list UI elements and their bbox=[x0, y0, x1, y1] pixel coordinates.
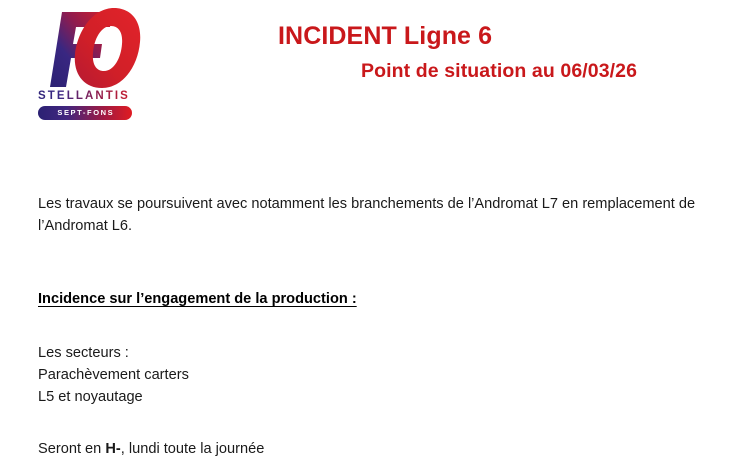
intro-paragraph: Les travaux se poursuivent avec notammen… bbox=[38, 193, 710, 237]
production-impact-heading: Incidence sur l’engagement de la product… bbox=[38, 291, 357, 307]
fo-logo-mark bbox=[28, 4, 146, 92]
closing-emphasis: H- bbox=[105, 441, 120, 457]
page-subtitle: Point de situation au 06/03/26 bbox=[361, 60, 637, 83]
page-title: INCIDENT Ligne 6 bbox=[278, 22, 492, 51]
logo-company-name: STELLANTIS bbox=[28, 90, 140, 103]
list-item: L5 et noyautage bbox=[38, 386, 718, 408]
closing-suffix: , lundi toute la journée bbox=[121, 441, 265, 457]
sector-list-label: Les secteurs : bbox=[38, 342, 718, 364]
document-header: STELLANTIS SEPT-FONS INCIDENT Ligne 6 Po… bbox=[0, 0, 750, 130]
fo-letters-icon bbox=[28, 4, 146, 92]
sector-list: Les secteurs : Parachèvement carters L5 … bbox=[38, 342, 718, 408]
list-item: Parachèvement carters bbox=[38, 364, 718, 386]
logo-site-badge: SEPT-FONS bbox=[38, 106, 132, 120]
closing-prefix: Seront en bbox=[38, 441, 105, 457]
fo-stellantis-logo: STELLANTIS SEPT-FONS bbox=[28, 4, 146, 124]
closing-statement: Seront en H-, lundi toute la journée bbox=[38, 438, 718, 460]
section-heading-row: Incidence sur l’engagement de la product… bbox=[38, 251, 718, 308]
document-body: Les travaux se poursuivent avec notammen… bbox=[38, 178, 718, 460]
